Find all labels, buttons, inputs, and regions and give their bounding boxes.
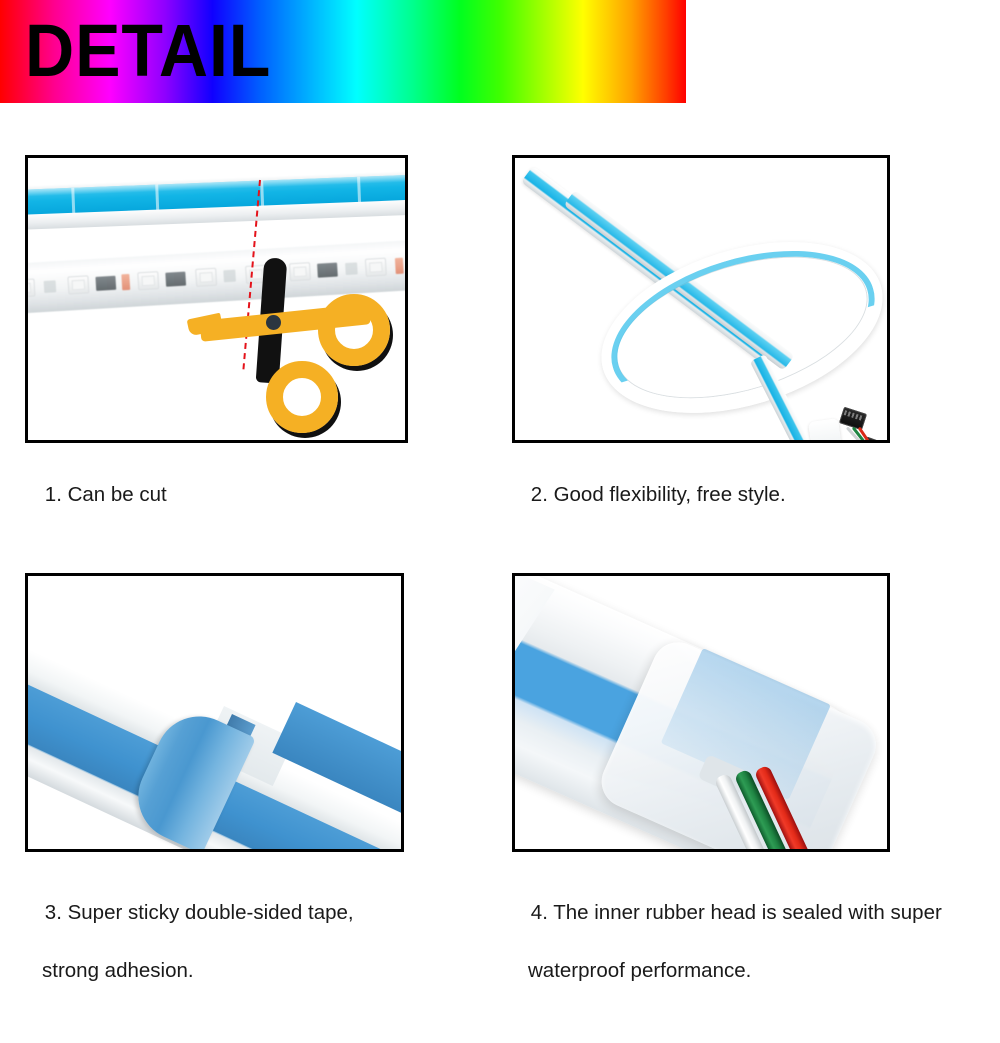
detail-image-1 bbox=[25, 155, 408, 443]
page-title: DETAIL bbox=[25, 14, 271, 88]
scissors-cut-illustration bbox=[28, 158, 405, 440]
adhesive-tape-illustration bbox=[28, 576, 401, 849]
caption-line-1: 4. The inner rubber head is sealed with … bbox=[531, 901, 942, 924]
caption-line-2: strong adhesion. bbox=[22, 956, 354, 985]
resistor-icon bbox=[121, 274, 130, 290]
flexible-loop-illustration bbox=[515, 158, 887, 440]
driver-ic-icon bbox=[95, 276, 116, 291]
detail-caption-3: 3. Super sticky double-sided tape, stron… bbox=[22, 869, 354, 1043]
header-banner: DETAIL bbox=[0, 0, 686, 103]
detail-image-4 bbox=[512, 573, 890, 852]
detail-caption-1: 1. Can be cut bbox=[22, 451, 167, 538]
detail-image-2 bbox=[512, 155, 890, 443]
led-chip-icon bbox=[67, 275, 89, 294]
caption-line-1: 2. Good flexibility, free style. bbox=[531, 483, 786, 506]
led-strip-top bbox=[25, 170, 408, 230]
caption-line-2: waterproof performance. bbox=[508, 956, 942, 985]
led-chip-icon bbox=[25, 279, 35, 298]
caption-line-1: 3. Super sticky double-sided tape, bbox=[45, 901, 354, 924]
scissors-pivot bbox=[266, 315, 281, 330]
detail-image-3 bbox=[25, 573, 404, 852]
detail-caption-4: 4. The inner rubber head is sealed with … bbox=[508, 869, 942, 1043]
scissors-ring bbox=[318, 294, 390, 366]
caption-line-1: 1. Can be cut bbox=[45, 483, 167, 506]
led-chip-icon bbox=[137, 271, 159, 290]
detail-caption-2: 2. Good flexibility, free style. bbox=[508, 451, 786, 538]
scissors-ring bbox=[266, 361, 338, 433]
rubber-head-illustration bbox=[515, 576, 887, 849]
scissors-icon bbox=[180, 258, 400, 438]
solder-pad-icon bbox=[44, 280, 57, 293]
